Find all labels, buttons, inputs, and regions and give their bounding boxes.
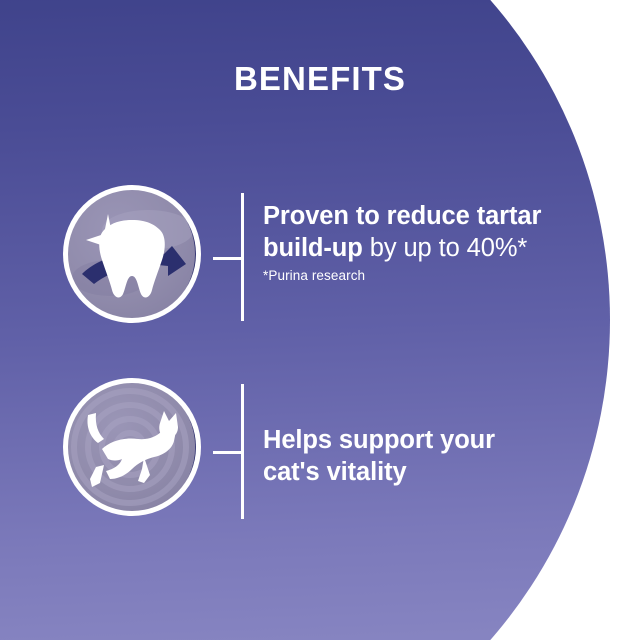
connector-tick <box>213 451 243 454</box>
leaping-cat-icon <box>68 383 196 511</box>
promo-graphic: BENEFITS <box>0 0 640 640</box>
benefit-footnote: *Purina research <box>263 267 563 284</box>
icon-disc <box>68 383 196 511</box>
benefit-icon-cat <box>63 378 201 516</box>
benefit-headline: Proven to reduce tartar build-up by up t… <box>263 201 563 264</box>
benefit-text: Helps support your cat's vitality <box>263 425 533 488</box>
benefit-icon-tooth <box>63 185 201 323</box>
benefit-text: Proven to reduce tartar build-up by up t… <box>263 201 563 284</box>
benefit-divider <box>241 193 244 321</box>
benefit-headline-regular: by up to 40%* <box>363 234 527 262</box>
benefit-headline: Helps support your cat's vitality <box>263 425 533 488</box>
tooth-sparkle-icon <box>68 190 196 318</box>
benefit-headline-bold: Helps support your cat's vitality <box>263 426 495 486</box>
connector-tick <box>213 257 243 260</box>
icon-disc <box>68 190 196 318</box>
page-title: BENEFITS <box>0 59 640 99</box>
benefit-divider <box>241 384 244 519</box>
